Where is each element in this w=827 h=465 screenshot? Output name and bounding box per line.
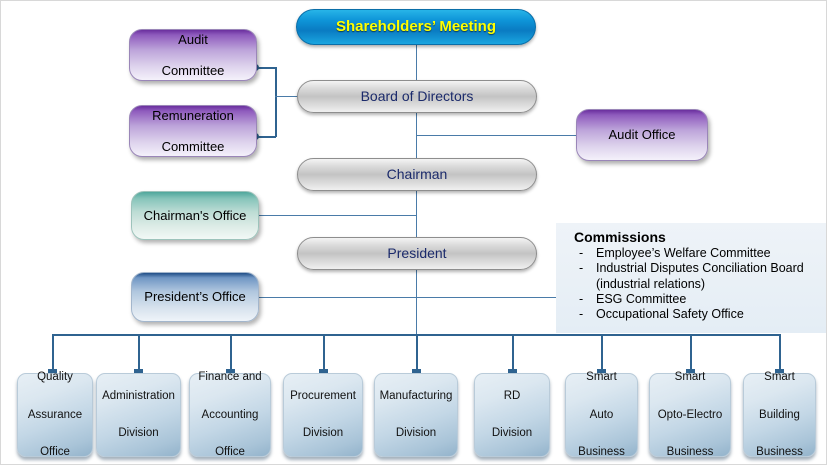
- chairmans-office-label: Chairman's Office: [132, 208, 258, 223]
- division-line2: Assurance: [20, 406, 90, 425]
- chairman-label: Chairman: [298, 166, 536, 183]
- division-line1: Smart: [746, 368, 813, 387]
- division-label: Quality Assurance Office: [20, 368, 90, 463]
- audit-committee-line1: Audit: [130, 32, 256, 47]
- division-line1: Administration: [99, 387, 178, 406]
- division-line1: RD: [477, 387, 547, 406]
- division-line1: Manufacturing: [377, 387, 455, 406]
- node-remuneration-committee[interactable]: Remuneration Committee: [129, 105, 257, 157]
- division-line3: Business: [746, 443, 813, 462]
- remuneration-committee-label: Remuneration Committee: [130, 108, 256, 154]
- division-line2: Accounting: [192, 406, 268, 425]
- connector-drop-division-2: [138, 334, 140, 373]
- commissions-item-continuation: (industrial relations): [574, 277, 820, 292]
- division-line2: Auto: [568, 406, 635, 425]
- node-division-finance-and-accounting-office[interactable]: Finance and Accounting Office: [189, 373, 271, 457]
- division-line3: Office: [20, 443, 90, 462]
- audit-committee-label: Audit Committee: [130, 32, 256, 78]
- division-line2: Division: [477, 424, 547, 443]
- connector-drop-division-4: [323, 334, 325, 373]
- division-label: RD Division: [477, 387, 547, 444]
- node-division-manufacturing-division[interactable]: Manufacturing Division: [374, 373, 458, 457]
- connector-chairmans-office: [259, 215, 416, 216]
- node-division-procurement-division[interactable]: Procurement Division: [283, 373, 363, 457]
- division-label: Manufacturing Division: [377, 387, 455, 444]
- commissions-item: Industrial Disputes Conciliation Board: [574, 261, 820, 276]
- commissions-item-label: Employee’s Welfare Committee: [596, 246, 771, 260]
- division-line2: Division: [286, 424, 360, 443]
- commissions-item-label: Occupational Safety Office: [596, 307, 744, 321]
- node-shareholders-meeting[interactable]: Shareholders’ Meeting: [296, 9, 536, 45]
- node-division-rd-division[interactable]: RD Division: [474, 373, 550, 457]
- division-line3: Business: [652, 443, 728, 462]
- division-line3: Business: [568, 443, 635, 462]
- node-chairman[interactable]: Chairman: [297, 158, 537, 191]
- remuneration-committee-line1: Remuneration: [130, 108, 256, 123]
- node-division-smart-auto-business[interactable]: Smart Auto Business: [565, 373, 638, 457]
- connector-board-to-audit-office: [416, 135, 579, 136]
- commissions-item-label: Industrial Disputes Conciliation Board: [596, 261, 804, 275]
- division-line2: Division: [99, 424, 178, 443]
- division-label: Administration Division: [99, 387, 178, 444]
- connector-drop-division-6: [512, 334, 514, 373]
- connector-commissions: [416, 297, 564, 298]
- node-division-smart-opto-electro-business[interactable]: Smart Opto-Electro Business: [649, 373, 731, 457]
- division-line1: Finance and: [192, 368, 268, 387]
- node-chairmans-office[interactable]: Chairman's Office: [131, 191, 259, 240]
- commissions-item: Employee’s Welfare Committee: [574, 246, 820, 261]
- node-audit-committee[interactable]: Audit Committee: [129, 29, 257, 81]
- board-of-directors-label: Board of Directors: [298, 88, 536, 105]
- commissions-item: Occupational Safety Office: [574, 307, 820, 322]
- connector-committee-bracket-vertical: [275, 67, 277, 137]
- node-audit-office[interactable]: Audit Office: [576, 109, 708, 161]
- node-division-administration-division[interactable]: Administration Division: [96, 373, 181, 457]
- division-line2: Building: [746, 406, 813, 425]
- node-presidents-office[interactable]: President’s Office: [131, 272, 259, 322]
- commissions-item: ESG Committee: [574, 292, 820, 307]
- division-line1: Quality: [20, 368, 90, 387]
- division-label: Smart Building Business: [746, 368, 813, 463]
- division-label: Smart Auto Business: [568, 368, 635, 463]
- node-president[interactable]: President: [297, 237, 537, 270]
- remuneration-committee-line2: Committee: [130, 139, 256, 154]
- division-line3: Office: [192, 443, 268, 462]
- commissions-list: Employee’s Welfare Committee Industrial …: [574, 246, 820, 322]
- audit-office-label: Audit Office: [577, 127, 707, 142]
- presidents-office-label: President’s Office: [132, 289, 258, 304]
- connector-presidents-office: [259, 297, 416, 298]
- shareholders-meeting-label: Shareholders’ Meeting: [297, 18, 535, 36]
- commissions-panel: Commissions Employee’s Welfare Committee…: [556, 223, 827, 333]
- division-label: Procurement Division: [286, 387, 360, 444]
- audit-committee-line2: Committee: [130, 63, 256, 78]
- division-line2: Opto-Electro: [652, 406, 728, 425]
- commissions-title: Commissions: [574, 229, 820, 245]
- connector-drop-division-5: [416, 334, 418, 373]
- org-chart-canvas: Shareholders’ Meeting Audit Committee Re…: [0, 0, 827, 465]
- node-division-smart-building-business[interactable]: Smart Building Business: [743, 373, 816, 457]
- division-line1: Smart: [652, 368, 728, 387]
- node-division-quality-assurance-office[interactable]: Quality Assurance Office: [17, 373, 93, 457]
- division-line2: Division: [377, 424, 455, 443]
- division-line1: Smart: [568, 368, 635, 387]
- president-label: President: [298, 245, 536, 262]
- node-board-of-directors[interactable]: Board of Directors: [297, 80, 537, 113]
- commissions-item-label: (industrial relations): [596, 277, 705, 291]
- commissions-item-label: ESG Committee: [596, 292, 686, 306]
- division-label: Finance and Accounting Office: [192, 368, 268, 463]
- division-label: Smart Opto-Electro Business: [652, 368, 728, 463]
- division-line1: Procurement: [286, 387, 360, 406]
